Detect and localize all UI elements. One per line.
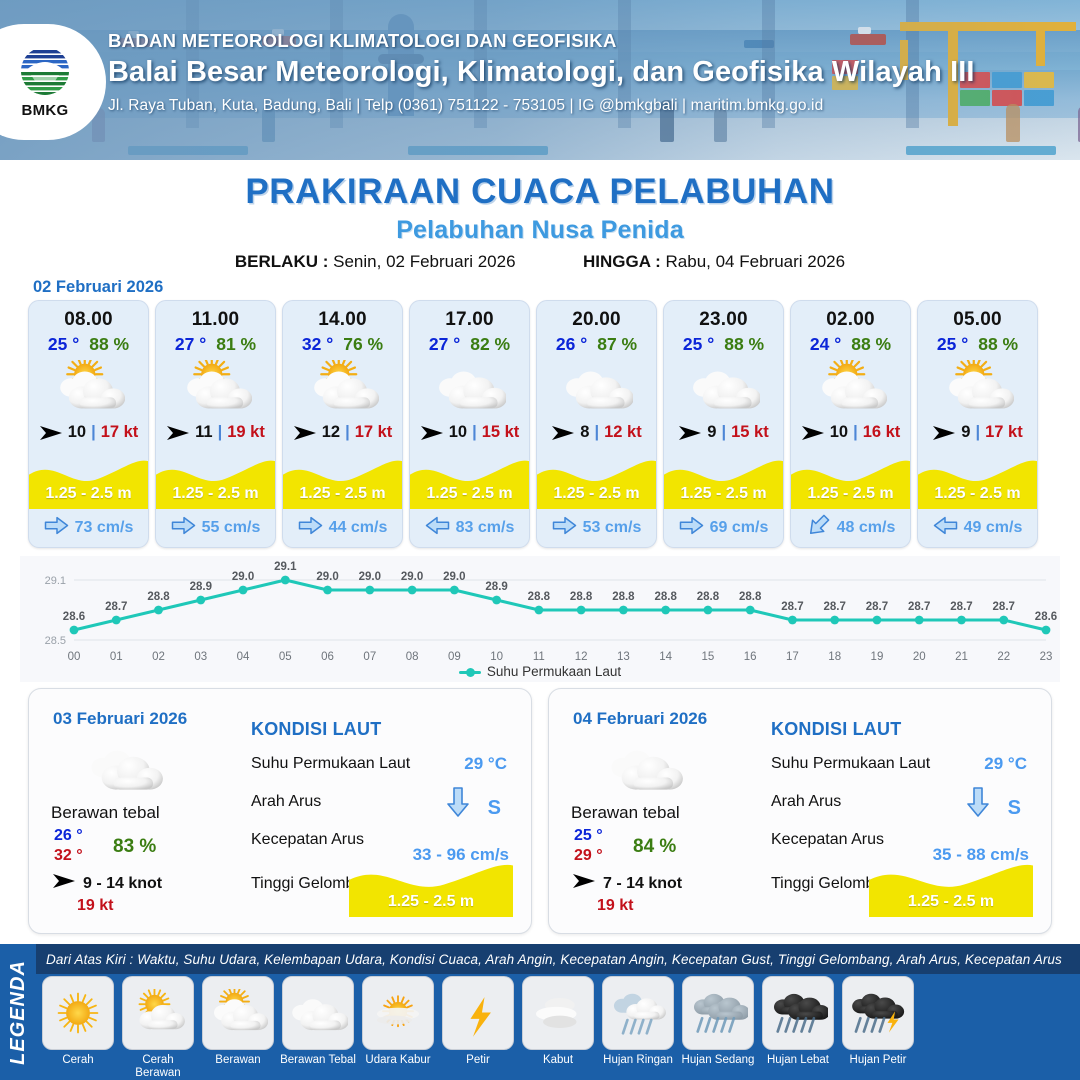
legend-item: Cerah bbox=[40, 976, 116, 1080]
card-temperature: 27 ° bbox=[175, 334, 206, 355]
svg-text:29.0: 29.0 bbox=[401, 571, 423, 583]
legend-item-label: Cerah Berawan bbox=[120, 1054, 196, 1079]
daily-gust-speed: 19 kt bbox=[77, 897, 113, 915]
card-separator: | bbox=[853, 423, 858, 442]
daily-temp-max: 32 ° bbox=[54, 847, 83, 865]
sst-value: 29 °C bbox=[984, 754, 1027, 774]
card-time: 20.00 bbox=[572, 309, 621, 331]
sst-value: 29 °C bbox=[464, 754, 507, 774]
card-gust-speed: 15 kt bbox=[731, 423, 769, 442]
sea-conditions-heading: KONDISI LAUT bbox=[771, 719, 901, 740]
svg-text:28.9: 28.9 bbox=[190, 581, 212, 593]
card-humidity: 87 % bbox=[597, 334, 637, 355]
valid-from-value: Senin, 02 Februari 2026 bbox=[333, 252, 515, 271]
hourly-card: 05.00 25 ° 88 % bbox=[917, 300, 1038, 548]
legend-item-label: Cerah bbox=[62, 1054, 93, 1067]
legend-item: Hujan Lebat bbox=[760, 976, 836, 1080]
card-gust-speed: 17 kt bbox=[355, 423, 393, 442]
current-direction-arrow-icon bbox=[44, 516, 69, 540]
card-wind-speed: 10 bbox=[449, 423, 467, 442]
svg-text:28.8: 28.8 bbox=[697, 591, 720, 603]
daily-gust-speed: 19 kt bbox=[597, 897, 633, 915]
moderate-rain-icon bbox=[682, 976, 754, 1050]
legend-item: Hujan Sedang bbox=[680, 976, 756, 1080]
legend-item-label: Udara Kabur bbox=[365, 1054, 430, 1067]
card-gust-speed: 12 kt bbox=[604, 423, 642, 442]
legend-note-bar: Dari Atas Kiri : Waktu, Suhu Udara, Kele… bbox=[36, 944, 1080, 974]
wave-band: 1.25 - 2.5 m bbox=[791, 457, 910, 509]
sunny-icon bbox=[42, 976, 114, 1050]
svg-text:28.7: 28.7 bbox=[908, 601, 930, 613]
svg-text:08: 08 bbox=[406, 651, 419, 663]
card-wave-height: 1.25 - 2.5 m bbox=[664, 485, 783, 503]
card-temperature: 32 ° bbox=[302, 334, 333, 355]
hourly-card: 14.00 32 ° 76 % bbox=[282, 300, 403, 548]
wind-direction-arrow-icon bbox=[801, 425, 825, 441]
current-direction-value: S bbox=[488, 797, 501, 820]
card-humidity: 88 % bbox=[724, 334, 764, 355]
cloudy-icon bbox=[410, 357, 529, 419]
card-current-row: 49 cm/s bbox=[918, 513, 1037, 543]
card-separator: | bbox=[721, 423, 726, 442]
cloudy-icon bbox=[664, 357, 783, 419]
card-current-row: 73 cm/s bbox=[29, 513, 148, 543]
svg-text:17: 17 bbox=[786, 651, 799, 663]
card-separator: | bbox=[594, 423, 599, 442]
current-direction-arrow-icon bbox=[425, 516, 450, 540]
daily-wind-speed: 9 - 14 knot bbox=[83, 875, 162, 893]
legend-item-label: Hujan Lebat bbox=[767, 1054, 829, 1067]
svg-text:28.7: 28.7 bbox=[950, 601, 972, 613]
current-direction-label: Arah Arus bbox=[251, 793, 321, 811]
svg-text:16: 16 bbox=[744, 651, 757, 663]
current-direction-label: Arah Arus bbox=[771, 793, 841, 811]
svg-text:11: 11 bbox=[533, 651, 545, 663]
header-org-line1: BADAN METEOROLOGI KLIMATOLOGI DAN GEOFIS… bbox=[108, 30, 975, 52]
card-wave-height: 1.25 - 2.5 m bbox=[537, 485, 656, 503]
cloudy-icon bbox=[282, 976, 354, 1050]
svg-text:28.9: 28.9 bbox=[485, 581, 507, 593]
svg-text:28.8: 28.8 bbox=[570, 591, 593, 603]
daily-temp-max: 29 ° bbox=[574, 847, 603, 865]
card-temperature: 25 ° bbox=[683, 334, 714, 355]
legend-section: LEGENDA Dari Atas Kiri : Waktu, Suhu Uda… bbox=[0, 944, 1080, 1080]
daily-condition: Berawan tebal bbox=[571, 803, 680, 823]
valid-until-label: HINGGA : bbox=[583, 252, 661, 271]
svg-text:28.8: 28.8 bbox=[612, 591, 635, 603]
legend-note-text: Dari Atas Kiri : Waktu, Suhu Udara, Kele… bbox=[36, 952, 1062, 967]
wave-band: 1.25 - 2.5 m bbox=[283, 457, 402, 509]
svg-text:13: 13 bbox=[617, 651, 630, 663]
daily-temp-min: 26 ° bbox=[54, 827, 83, 845]
card-wave-height: 1.25 - 2.5 m bbox=[918, 485, 1037, 503]
card-time: 23.00 bbox=[699, 309, 748, 331]
card-current-speed: 44 cm/s bbox=[329, 519, 388, 537]
legend-item-label: Berawan Tebal bbox=[280, 1054, 356, 1067]
legend-item: Udara Kabur bbox=[360, 976, 436, 1080]
svg-text:28.6: 28.6 bbox=[63, 611, 85, 623]
card-gust-speed: 16 kt bbox=[863, 423, 901, 442]
card-gust-speed: 17 kt bbox=[985, 423, 1023, 442]
card-separator: | bbox=[345, 423, 350, 442]
card-separator: | bbox=[218, 423, 223, 442]
chart-legend: Suhu Permukaan Laut bbox=[0, 664, 1080, 679]
daily-humidity: 83 % bbox=[113, 836, 156, 858]
svg-text:28.6: 28.6 bbox=[1035, 611, 1057, 623]
daily-wind-row: 7 - 14 knot bbox=[572, 873, 682, 894]
daily-wind-speed: 7 - 14 knot bbox=[603, 875, 682, 893]
header-contact-line: Jl. Raya Tuban, Kuta, Badung, Bali | Tel… bbox=[108, 97, 975, 115]
daily-wave-value: 1.25 - 2.5 m bbox=[869, 893, 1033, 911]
svg-text:23: 23 bbox=[1040, 651, 1053, 663]
card-humidity: 88 % bbox=[978, 334, 1018, 355]
daily-wave-band: 1.25 - 2.5 m bbox=[349, 861, 513, 917]
cloudy-icon bbox=[537, 357, 656, 419]
hourly-card: 20.00 26 ° 87 % bbox=[536, 300, 657, 548]
card-separator: | bbox=[975, 423, 980, 442]
current-speed-label: Kecepatan Arus bbox=[771, 831, 884, 849]
svg-text:15: 15 bbox=[702, 651, 715, 663]
lightning-icon bbox=[442, 976, 514, 1050]
card-current-row: 55 cm/s bbox=[156, 513, 275, 543]
partly-cloudy-icon bbox=[283, 357, 402, 419]
daily-forecast-row: 03 Februari 2026 Berawan tebal 26 ° 32 °… bbox=[28, 688, 1052, 934]
card-temperature: 26 ° bbox=[556, 334, 587, 355]
svg-text:29.0: 29.0 bbox=[316, 571, 338, 583]
card-current-speed: 55 cm/s bbox=[202, 519, 261, 537]
card-wave-height: 1.25 - 2.5 m bbox=[410, 485, 529, 503]
card-separator: | bbox=[91, 423, 96, 442]
svg-text:19: 19 bbox=[871, 651, 884, 663]
card-humidity: 88 % bbox=[89, 334, 129, 355]
wind-direction-arrow-icon bbox=[52, 873, 76, 894]
svg-text:28.7: 28.7 bbox=[105, 601, 127, 613]
current-direction-arrow-icon bbox=[447, 787, 469, 822]
cloudy-icon bbox=[589, 737, 699, 799]
card-time: 05.00 bbox=[953, 309, 1002, 331]
card-time: 17.00 bbox=[445, 309, 494, 331]
svg-text:29.1: 29.1 bbox=[45, 575, 66, 587]
card-wind-speed: 9 bbox=[707, 423, 716, 442]
hourly-card: 11.00 27 ° 81 % bbox=[155, 300, 276, 548]
daily-date: 03 Februari 2026 bbox=[53, 709, 187, 729]
card-time: 02.00 bbox=[826, 309, 875, 331]
svg-text:28.5: 28.5 bbox=[45, 635, 66, 647]
daily-condition: Berawan tebal bbox=[51, 803, 160, 823]
daily-wave-band: 1.25 - 2.5 m bbox=[869, 861, 1033, 917]
card-current-speed: 73 cm/s bbox=[75, 519, 134, 537]
wind-direction-arrow-icon bbox=[678, 425, 702, 441]
daily-date: 04 Februari 2026 bbox=[573, 709, 707, 729]
hourly-date-label: 02 Februari 2026 bbox=[33, 278, 163, 297]
sst-label: Suhu Permukaan Laut bbox=[251, 755, 410, 773]
card-temperature: 24 ° bbox=[810, 334, 841, 355]
legend-item-label: Hujan Petir bbox=[850, 1054, 907, 1067]
current-direction-arrow-icon bbox=[298, 516, 323, 540]
wind-direction-arrow-icon bbox=[932, 425, 956, 441]
card-temperature: 27 ° bbox=[429, 334, 460, 355]
partly-cloudy-icon bbox=[202, 976, 274, 1050]
card-gust-speed: 19 kt bbox=[227, 423, 265, 442]
card-current-speed: 69 cm/s bbox=[710, 519, 769, 537]
card-wind-speed: 11 bbox=[195, 423, 212, 442]
legend-item-label: Hujan Sedang bbox=[682, 1054, 755, 1067]
card-humidity: 76 % bbox=[343, 334, 383, 355]
legend-side-title-text: LEGENDA bbox=[7, 960, 30, 1065]
svg-text:21: 21 bbox=[955, 651, 968, 663]
current-direction-arrow-icon bbox=[171, 516, 196, 540]
legend-item: Hujan Petir bbox=[840, 976, 916, 1080]
card-current-row: 69 cm/s bbox=[664, 513, 783, 543]
svg-text:28.7: 28.7 bbox=[866, 601, 888, 613]
card-wind-speed: 8 bbox=[580, 423, 589, 442]
current-direction-arrow-icon bbox=[552, 516, 577, 540]
card-current-row: 44 cm/s bbox=[283, 513, 402, 543]
card-current-speed: 49 cm/s bbox=[964, 519, 1023, 537]
card-wave-height: 1.25 - 2.5 m bbox=[156, 485, 275, 503]
hourly-card: 08.00 25 ° 88 % bbox=[28, 300, 149, 548]
bmkg-logo-mark bbox=[17, 45, 73, 101]
legend-side-title: LEGENDA bbox=[0, 944, 36, 1080]
svg-text:28.8: 28.8 bbox=[739, 591, 762, 603]
wave-band: 1.25 - 2.5 m bbox=[156, 457, 275, 509]
svg-text:29.0: 29.0 bbox=[443, 571, 465, 583]
current-direction-arrow-icon bbox=[806, 516, 831, 540]
header-org-line2: Balai Besar Meteorologi, Klimatologi, da… bbox=[108, 56, 975, 89]
legend-item-label: Berawan bbox=[215, 1054, 260, 1067]
cloudy-icon bbox=[69, 737, 179, 799]
card-wave-height: 1.25 - 2.5 m bbox=[283, 485, 402, 503]
current-direction-arrow-icon bbox=[967, 787, 989, 822]
wave-band: 1.25 - 2.5 m bbox=[29, 457, 148, 509]
svg-text:03: 03 bbox=[194, 651, 207, 663]
svg-text:05: 05 bbox=[279, 651, 292, 663]
daily-temp-min: 25 ° bbox=[574, 827, 603, 845]
legend-item: Berawan bbox=[200, 976, 276, 1080]
svg-text:06: 06 bbox=[321, 651, 334, 663]
svg-text:28.8: 28.8 bbox=[654, 591, 677, 603]
page-title: PRAKIRAAN CUACA PELABUHAN bbox=[0, 172, 1080, 212]
chart-legend-label: Suhu Permukaan Laut bbox=[487, 664, 621, 679]
svg-text:01: 01 bbox=[110, 651, 123, 663]
hourly-card: 23.00 25 ° 88 % bbox=[663, 300, 784, 548]
partly-cloudy-icon bbox=[29, 357, 148, 419]
wave-band: 1.25 - 2.5 m bbox=[918, 457, 1037, 509]
card-current-row: 48 cm/s bbox=[791, 513, 910, 543]
daily-wind-row: 9 - 14 knot bbox=[52, 873, 162, 894]
card-temperature: 25 ° bbox=[48, 334, 79, 355]
svg-text:02: 02 bbox=[152, 651, 165, 663]
hourly-card: 17.00 27 ° 82 % bbox=[409, 300, 530, 548]
card-wave-height: 1.25 - 2.5 m bbox=[29, 485, 148, 503]
chart-legend-marker bbox=[459, 671, 481, 674]
daily-forecast-panel: 03 Februari 2026 Berawan tebal 26 ° 32 °… bbox=[28, 688, 532, 934]
sst-label: Suhu Permukaan Laut bbox=[771, 755, 930, 773]
validity-row: BERLAKU : Senin, 02 Februari 2026 HINGGA… bbox=[0, 252, 1080, 272]
card-current-speed: 48 cm/s bbox=[837, 519, 896, 537]
bmkg-logo-text: BMKG bbox=[21, 102, 68, 119]
svg-text:28.7: 28.7 bbox=[824, 601, 846, 613]
legend-item-label: Petir bbox=[466, 1054, 490, 1067]
card-current-speed: 83 cm/s bbox=[456, 519, 515, 537]
partly-cloudy-icon bbox=[156, 357, 275, 419]
heavy-rain-icon bbox=[762, 976, 834, 1050]
light-rain-icon bbox=[602, 976, 674, 1050]
legend-item-label: Kabut bbox=[543, 1054, 573, 1067]
wind-direction-arrow-icon bbox=[39, 425, 63, 441]
valid-until-value: Rabu, 04 Februari 2026 bbox=[666, 252, 846, 271]
svg-text:29.1: 29.1 bbox=[274, 561, 297, 573]
svg-text:28.8: 28.8 bbox=[147, 591, 170, 603]
partly-sunny-icon bbox=[122, 976, 194, 1050]
card-current-row: 53 cm/s bbox=[537, 513, 656, 543]
card-humidity: 82 % bbox=[470, 334, 510, 355]
svg-text:29.0: 29.0 bbox=[359, 571, 381, 583]
wave-band: 1.25 - 2.5 m bbox=[410, 457, 529, 509]
header-text-block: BADAN METEOROLOGI KLIMATOLOGI DAN GEOFIS… bbox=[108, 30, 975, 115]
svg-text:12: 12 bbox=[575, 651, 588, 663]
svg-text:29.0: 29.0 bbox=[232, 571, 254, 583]
legend-item: Kabut bbox=[520, 976, 596, 1080]
fog-icon bbox=[522, 976, 594, 1050]
page-subtitle: Pelabuhan Nusa Penida bbox=[0, 216, 1080, 245]
card-time: 14.00 bbox=[318, 309, 367, 331]
svg-text:14: 14 bbox=[659, 651, 672, 663]
daily-humidity: 84 % bbox=[633, 836, 676, 858]
svg-text:18: 18 bbox=[828, 651, 841, 663]
card-gust-speed: 17 kt bbox=[101, 423, 139, 442]
legend-item: Petir bbox=[440, 976, 516, 1080]
card-current-row: 83 cm/s bbox=[410, 513, 529, 543]
svg-text:04: 04 bbox=[237, 651, 250, 663]
card-gust-speed: 15 kt bbox=[482, 423, 520, 442]
wave-band: 1.25 - 2.5 m bbox=[664, 457, 783, 509]
svg-text:10: 10 bbox=[490, 651, 503, 663]
wind-direction-arrow-icon bbox=[166, 425, 190, 441]
wind-direction-arrow-icon bbox=[420, 425, 444, 441]
card-humidity: 81 % bbox=[216, 334, 256, 355]
legend-item-label: Hujan Ringan bbox=[603, 1054, 673, 1067]
svg-text:28.7: 28.7 bbox=[993, 601, 1015, 613]
card-wind-speed: 12 bbox=[322, 423, 340, 442]
svg-text:28.8: 28.8 bbox=[528, 591, 551, 603]
svg-text:28.7: 28.7 bbox=[781, 601, 803, 613]
wind-direction-arrow-icon bbox=[572, 873, 596, 894]
valid-from-label: BERLAKU : bbox=[235, 252, 329, 271]
sea-conditions-heading: KONDISI LAUT bbox=[251, 719, 381, 740]
daily-wave-value: 1.25 - 2.5 m bbox=[349, 893, 513, 911]
current-speed-label: Kecepatan Arus bbox=[251, 831, 364, 849]
svg-text:00: 00 bbox=[68, 651, 81, 663]
legend-item: Hujan Ringan bbox=[600, 976, 676, 1080]
card-time: 08.00 bbox=[64, 309, 113, 331]
card-time: 11.00 bbox=[192, 309, 240, 331]
card-current-speed: 53 cm/s bbox=[583, 519, 642, 537]
svg-text:09: 09 bbox=[448, 651, 461, 663]
svg-text:20: 20 bbox=[913, 651, 926, 663]
wind-direction-arrow-icon bbox=[551, 425, 575, 441]
card-wind-speed: 9 bbox=[961, 423, 970, 442]
card-separator: | bbox=[472, 423, 477, 442]
thunderstorm-icon bbox=[842, 976, 914, 1050]
wind-direction-arrow-icon bbox=[293, 425, 317, 441]
legend-item: Berawan Tebal bbox=[280, 976, 356, 1080]
legend-item: Cerah Berawan bbox=[120, 976, 196, 1080]
page-header-banner: BMKG BADAN METEOROLOGI KLIMATOLOGI DAN G… bbox=[0, 0, 1080, 160]
svg-text:22: 22 bbox=[997, 651, 1010, 663]
partly-cloudy-icon bbox=[791, 357, 910, 419]
card-wave-height: 1.25 - 2.5 m bbox=[791, 485, 910, 503]
card-temperature: 25 ° bbox=[937, 334, 968, 355]
hourly-forecast-row: 08.00 25 ° 88 % bbox=[28, 300, 1052, 548]
current-direction-arrow-icon bbox=[933, 516, 958, 540]
svg-text:07: 07 bbox=[363, 651, 376, 663]
card-wind-speed: 10 bbox=[830, 423, 848, 442]
haze-icon bbox=[362, 976, 434, 1050]
card-wind-speed: 10 bbox=[68, 423, 86, 442]
hourly-card: 02.00 24 ° 88 % bbox=[790, 300, 911, 548]
current-direction-arrow-icon bbox=[679, 516, 704, 540]
wave-band: 1.25 - 2.5 m bbox=[537, 457, 656, 509]
daily-forecast-panel: 04 Februari 2026 Berawan tebal 25 ° 29 °… bbox=[548, 688, 1052, 934]
card-humidity: 88 % bbox=[851, 334, 891, 355]
current-direction-value: S bbox=[1008, 797, 1021, 820]
legend-items: Cerah Cerah Berawan bbox=[40, 976, 1076, 1080]
partly-cloudy-icon bbox=[918, 357, 1037, 419]
